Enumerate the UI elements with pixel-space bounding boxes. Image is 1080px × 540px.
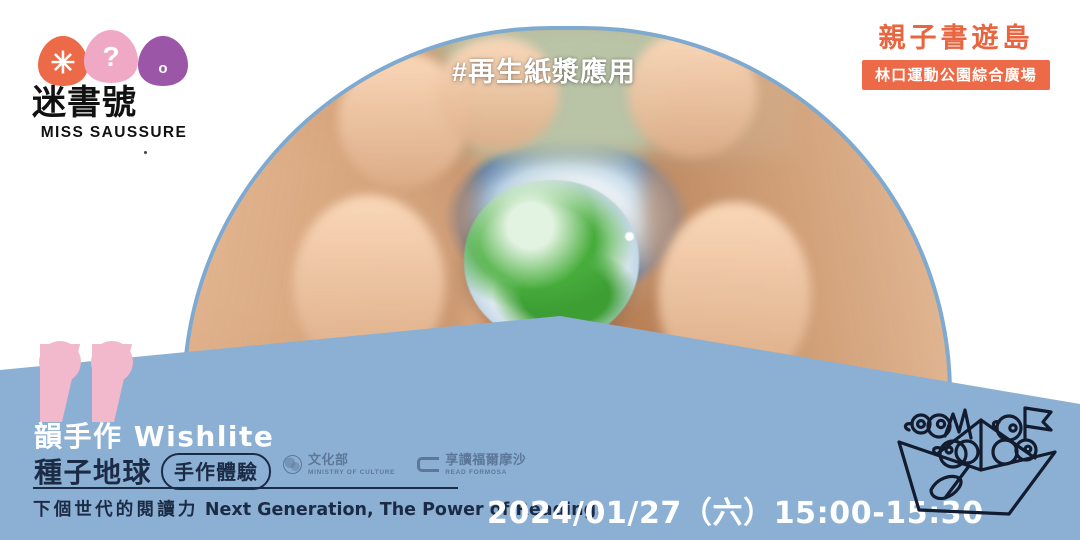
brand-logo: ✳ ? o 迷書號 MISS SAUSSURE [32, 28, 192, 138]
event-title: 親子書遊島 [862, 24, 1050, 54]
event-brand: 親子書遊島 林口運動公園綜合廣場 [862, 24, 1050, 90]
read-formosa-bracket-icon [417, 457, 439, 472]
blob-purple-icon: o [136, 34, 190, 88]
sponsor-name-en: MINISTRY OF CULTURE [308, 470, 395, 477]
poster-canvas: #再生紙漿應用 ✳ ? o 迷書號 MISS SAUSSURE 親子書遊島 林口… [0, 0, 1080, 540]
blob-pink-icon: ? [82, 28, 140, 86]
divider-line [33, 487, 458, 489]
event-venue-badge: 林口運動公園綜合廣場 [862, 60, 1050, 90]
brand-name-cn: 迷書號 [32, 86, 192, 122]
water-droplet [625, 232, 634, 241]
sponsor-read-formosa: 享讀福爾摩沙 READ FORMOSA [417, 452, 526, 477]
quotation-mark-icon [36, 340, 144, 426]
sponsor-ministry-of-culture: 文化部 MINISTRY OF CULTURE [283, 452, 395, 477]
brand-dot [144, 151, 147, 154]
sponsor-name-en: READ FORMOSA [445, 470, 526, 477]
workshop-title-line2: 種子地球 [34, 451, 152, 491]
workshop-title-row2: 種子地球 手作體驗 [34, 451, 271, 491]
paper-boat-icon [885, 392, 1070, 522]
ministry-seal-icon [283, 455, 302, 474]
experience-pill-badge: 手作體驗 [161, 453, 271, 490]
brand-name-en: MISS SAUSSURE [33, 124, 195, 142]
question-mark-icon: ? [82, 28, 140, 86]
sponsor-name-cn: 文化部 [308, 453, 349, 468]
workshop-title-line1: 韻手作 Wishlite [34, 415, 274, 455]
sponsor-logos: 文化部 MINISTRY OF CULTURE 享讀福爾摩沙 READ FORM… [283, 452, 526, 477]
photo-finger [628, 30, 758, 157]
sponsor-name-cn: 享讀福爾摩沙 [445, 453, 526, 468]
tagline-cn: 下個世代的閱讀力 [33, 500, 199, 520]
hashtag-label: #再生紙漿應用 [452, 50, 636, 89]
